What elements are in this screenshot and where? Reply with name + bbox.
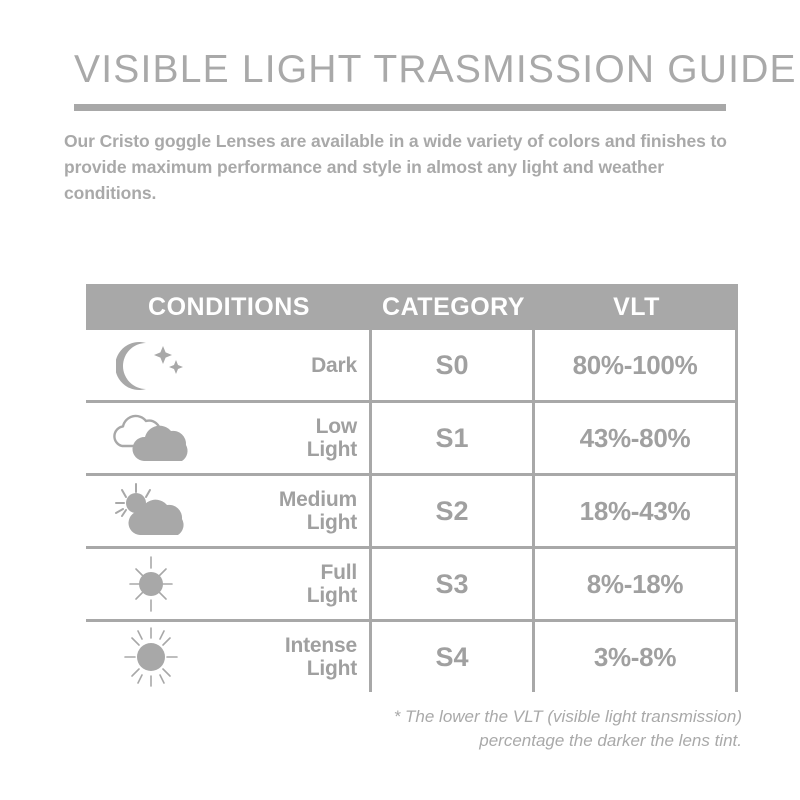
table-row: Intense Light S4 3%-8% <box>86 622 738 692</box>
condition-label: Intense Light <box>285 634 357 680</box>
vlt-label: 80%-100% <box>573 350 698 381</box>
table-header-row: CONDITIONS CATEGORY VLT <box>86 284 738 330</box>
vlt-cell: 8%-18% <box>535 549 735 619</box>
title-divider <box>74 104 726 111</box>
category-cell: S0 <box>372 330 532 400</box>
vlt-label: 3%-8% <box>594 642 676 673</box>
condition-label: Medium Light <box>279 488 357 534</box>
condition-label: Low Light <box>307 415 357 461</box>
vlt-cell: 18%-43% <box>535 476 735 546</box>
intense-sun-icon <box>86 625 216 689</box>
condition-label-line2: Light <box>307 657 357 680</box>
vlt-label: 43%-80% <box>580 423 691 454</box>
clouds-icon <box>86 410 216 466</box>
table-body: Dark S0 80%-100% <box>86 330 738 692</box>
condition-label-line2: Light <box>307 438 357 461</box>
vlt-label: 18%-43% <box>580 496 691 527</box>
vlt-cell: 80%-100% <box>535 330 735 400</box>
category-label: S4 <box>435 642 468 673</box>
moon-stars-icon <box>86 339 216 391</box>
sun-icon <box>86 553 216 615</box>
table-row: Medium Light S2 18%-43% <box>86 476 738 546</box>
conditions-cell: Medium Light <box>86 476 369 546</box>
category-label: S0 <box>435 350 468 381</box>
category-cell: S2 <box>372 476 532 546</box>
table-row: Low Light S1 43%-80% <box>86 403 738 473</box>
condition-label-line2: Light <box>307 511 357 534</box>
category-label: S1 <box>435 423 468 454</box>
conditions-cell: Dark <box>86 330 369 400</box>
category-label: S2 <box>435 496 468 527</box>
condition-label-line2: Light <box>307 584 357 607</box>
intro-paragraph: Our Cristo goggle Lenses are available i… <box>64 128 744 206</box>
footnote-line1: * The lower the VLT (visible light trans… <box>394 707 742 726</box>
condition-label-line1: Intense <box>285 634 357 657</box>
vlt-label: 8%-18% <box>587 569 683 600</box>
vlt-guide-page: VISIBLE LIGHT TRASMISSION GUIDE Our Cris… <box>0 0 800 800</box>
conditions-cell: Low Light <box>86 403 369 473</box>
footnote-line2: percentage the darker the lens tint. <box>479 731 742 750</box>
page-title: VISIBLE LIGHT TRASMISSION GUIDE <box>74 48 797 92</box>
column-header-conditions: CONDITIONS <box>86 284 372 330</box>
condition-label: Dark <box>311 354 357 377</box>
condition-label: Full Light <box>307 561 357 607</box>
column-header-category: CATEGORY <box>372 284 535 330</box>
category-cell: S3 <box>372 549 532 619</box>
table-row: Dark S0 80%-100% <box>86 330 738 400</box>
category-cell: S1 <box>372 403 532 473</box>
footnote: * The lower the VLT (visible light trans… <box>290 705 742 753</box>
category-label: S3 <box>435 569 468 600</box>
vlt-cell: 43%-80% <box>535 403 735 473</box>
sun-behind-cloud-icon <box>86 482 216 540</box>
column-header-vlt: VLT <box>535 284 738 330</box>
vlt-table: CONDITIONS CATEGORY VLT Dark <box>86 284 738 692</box>
conditions-cell: Full Light <box>86 549 369 619</box>
condition-label-line1: Full <box>320 561 357 584</box>
table-row: Full Light S3 8%-18% <box>86 549 738 619</box>
vlt-cell: 3%-8% <box>535 622 735 692</box>
condition-label-line1: Low <box>316 415 357 438</box>
condition-label-line1: Medium <box>279 488 357 511</box>
conditions-cell: Intense Light <box>86 622 369 692</box>
category-cell: S4 <box>372 622 532 692</box>
